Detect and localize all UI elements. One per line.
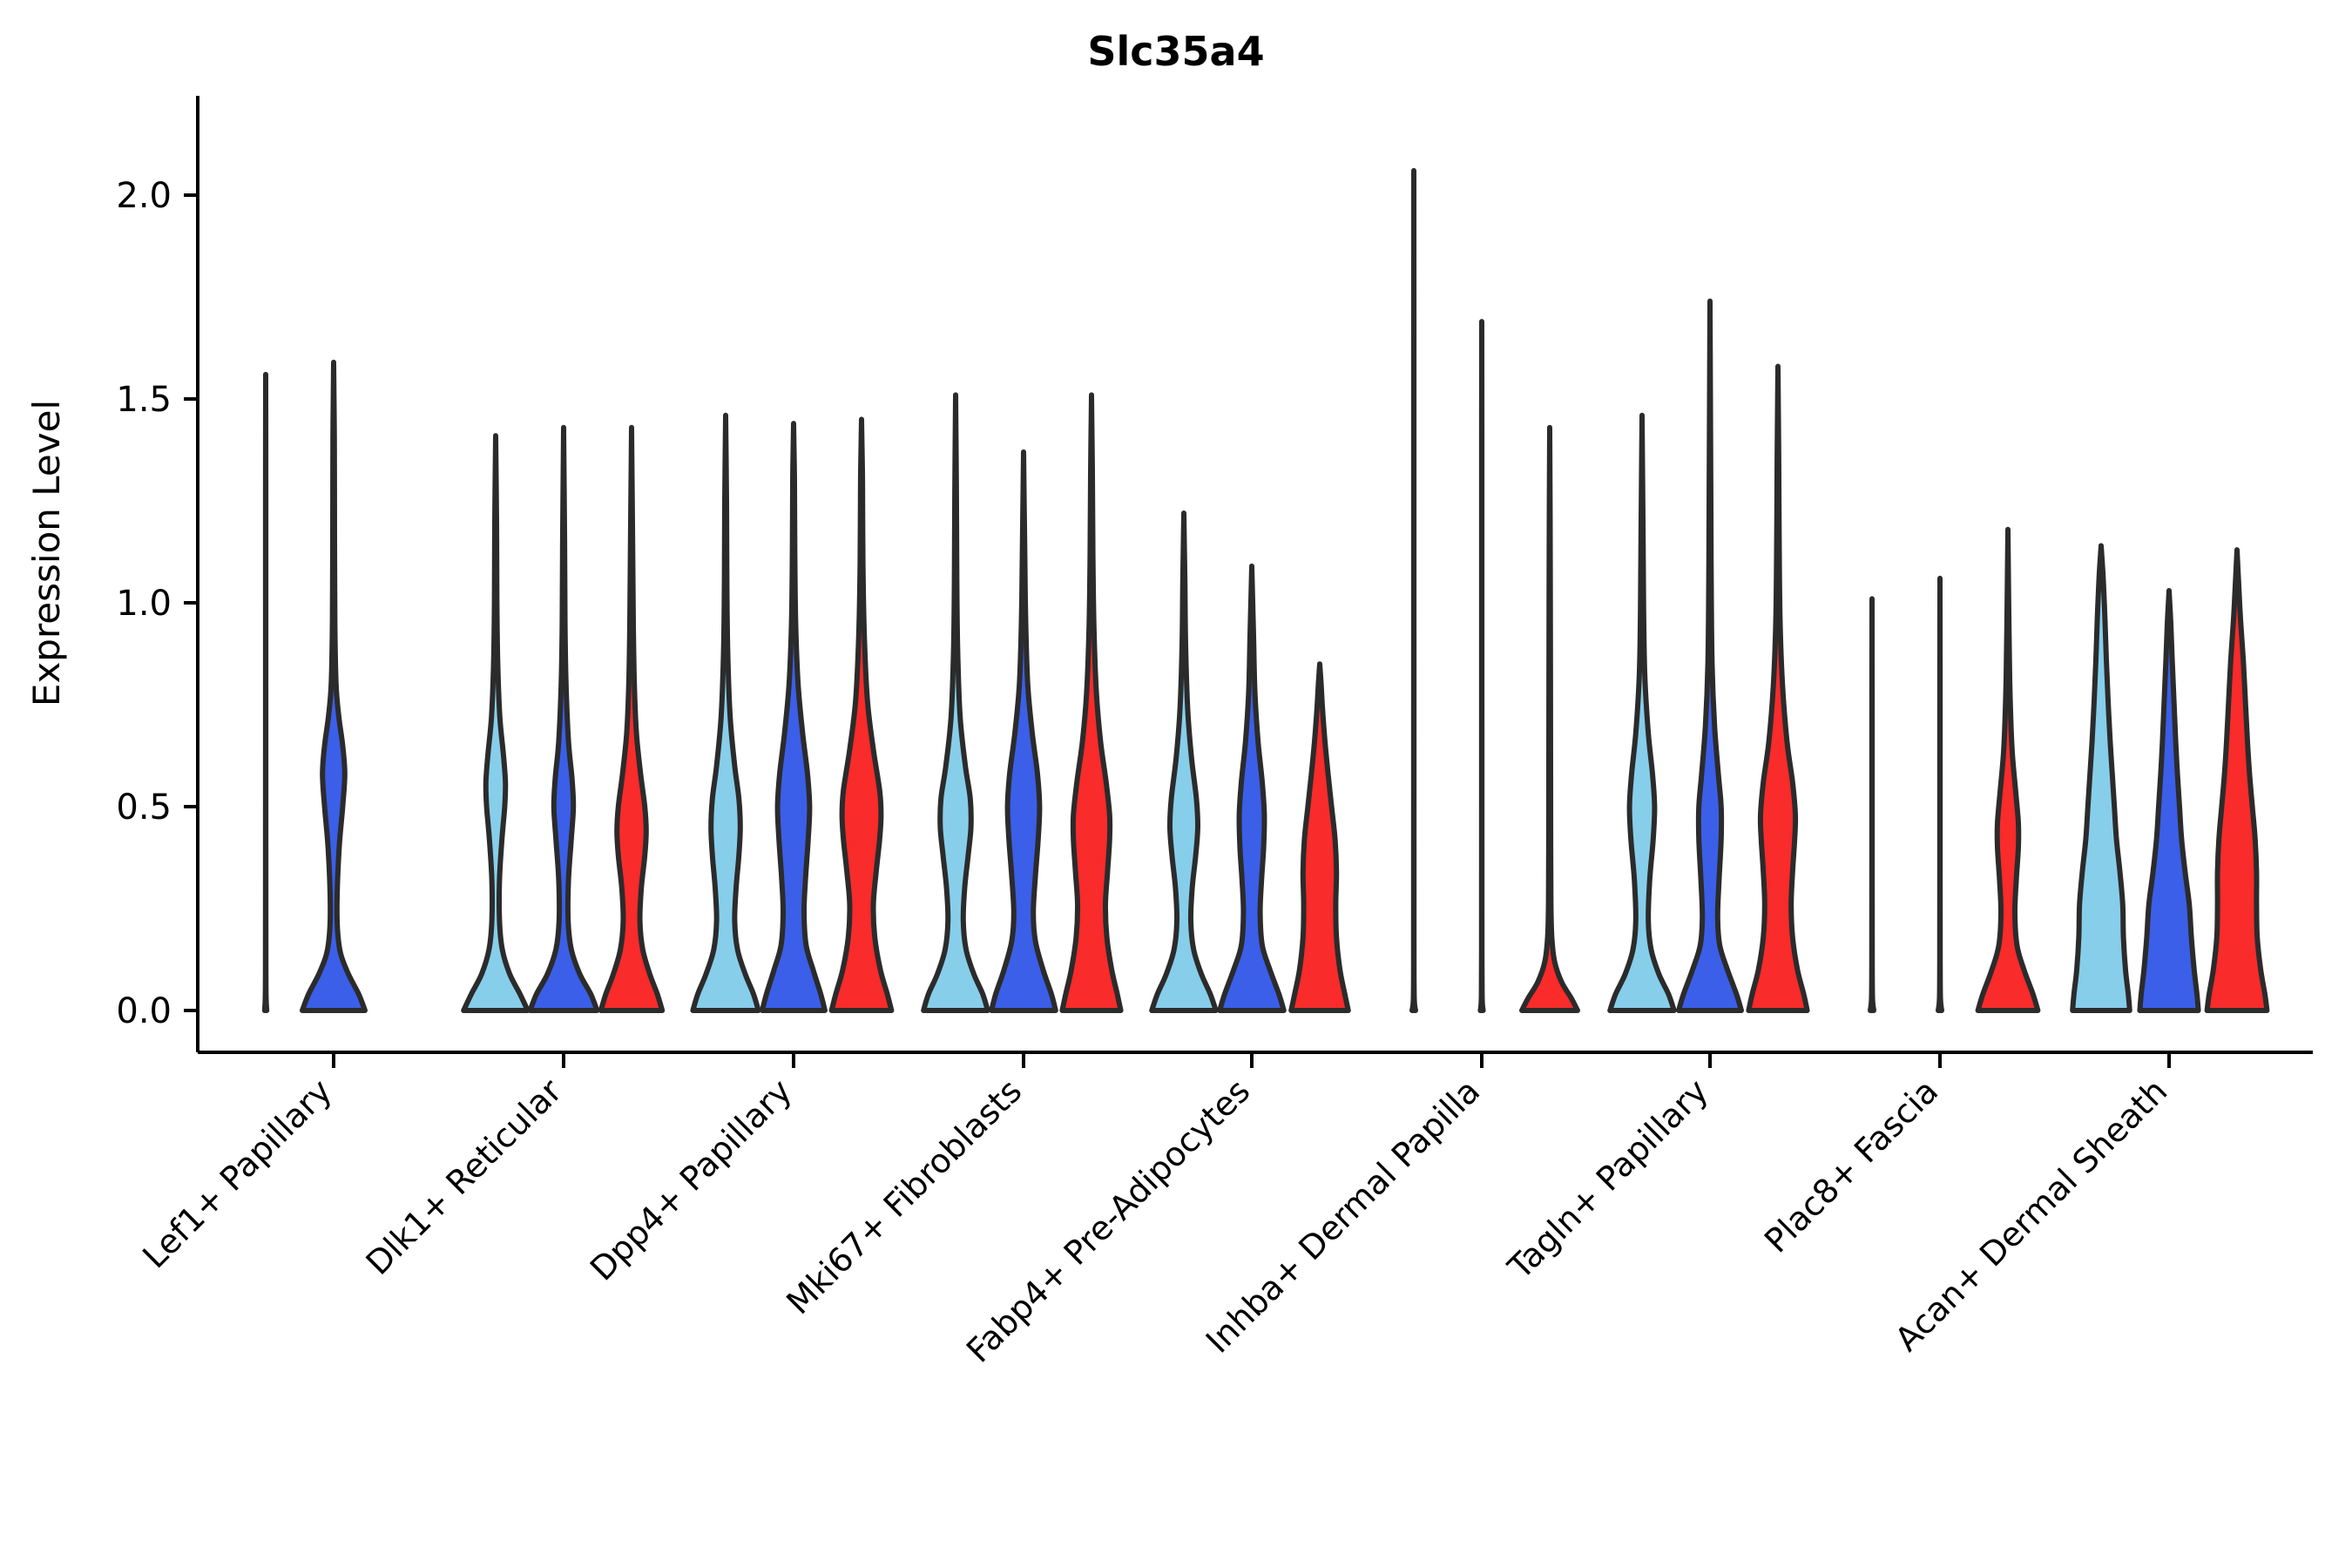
violin-shape[interactable] <box>1412 171 1416 1010</box>
y-tick-label: 1.0 <box>116 584 172 624</box>
chart-canvas: Slc35a4 Expression Level 0.00.51.01.52.0… <box>0 0 2352 1568</box>
violin-plot-figure: Slc35a4 Expression Level 0.00.51.01.52.0… <box>0 0 2352 1568</box>
y-tick-label: 0.0 <box>116 991 172 1031</box>
violin-shape[interactable] <box>1480 321 1483 1010</box>
chart-title: Slc35a4 <box>1087 28 1264 75</box>
y-tick-label: 2.0 <box>116 176 172 216</box>
y-axis-label: Expression Level <box>25 400 68 706</box>
y-tick-label: 1.5 <box>116 380 172 420</box>
violin-shape[interactable] <box>1938 578 1942 1010</box>
violin-shape[interactable] <box>1870 598 1874 1010</box>
y-tick-label: 0.5 <box>116 787 172 828</box>
violin-shape[interactable] <box>265 375 267 1010</box>
